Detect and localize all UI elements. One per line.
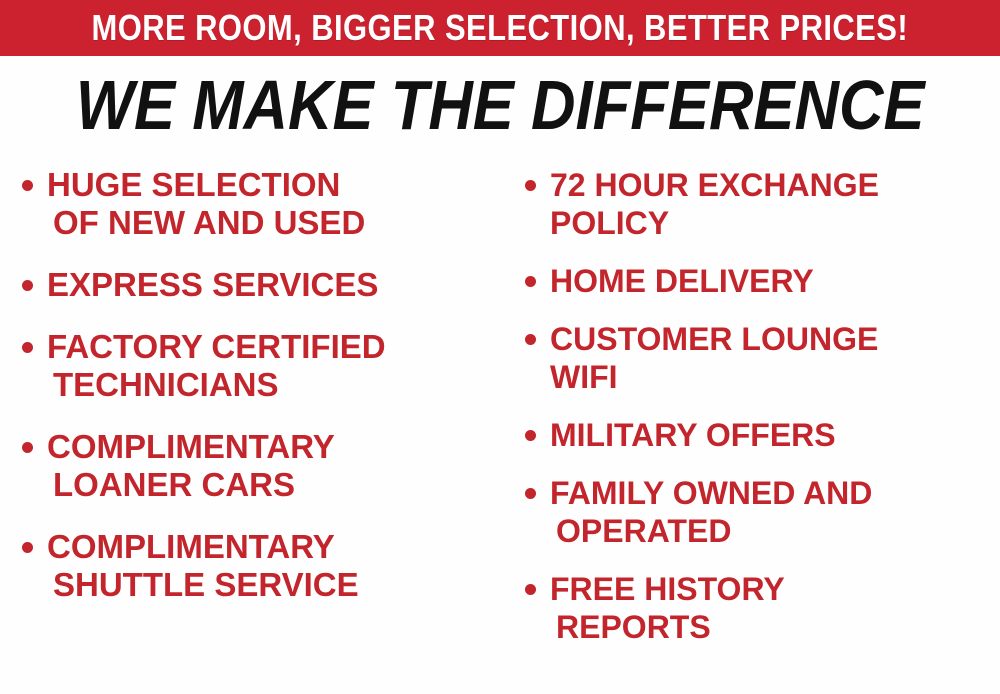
bullet-dot-icon (525, 334, 536, 345)
bullet-text: 72 HOUR EXCHANGE POLICY (550, 166, 879, 242)
headline-text: WE MAKE THE DIFFERENCE (76, 69, 925, 141)
bullet-dot-icon (22, 542, 33, 553)
bullet-dot-icon (22, 280, 33, 291)
list-item: FAMILY OWNED AND OPERATED (525, 474, 996, 550)
bullet-line-1: FAMILY OWNED AND (550, 475, 872, 511)
bullet-line-1: COMPLIMENTARY (47, 428, 335, 465)
list-item: FACTORY CERTIFIED TECHNICIANS (22, 328, 494, 404)
bullet-line-1: CUSTOMER LOUNGE (550, 321, 878, 357)
list-item: HUGE SELECTION OF NEW AND USED (22, 166, 494, 242)
bullet-dot-icon (22, 342, 33, 353)
bullet-text: EXPRESS SERVICES (47, 266, 378, 304)
bullet-text: HOME DELIVERY (550, 262, 814, 300)
bullet-line-1: FREE HISTORY (550, 571, 785, 607)
benefits-column-left: HUGE SELECTION OF NEW AND USED EXPRESS S… (0, 158, 500, 694)
bullet-text: COMPLIMENTARY LOANER CARS (47, 428, 335, 504)
bullet-line-2: WIFI (550, 358, 878, 396)
bullet-line-2: OF NEW AND USED (47, 204, 365, 242)
benefits-column-right: 72 HOUR EXCHANGE POLICY HOME DELIVERY CU… (500, 158, 1000, 694)
bullet-dot-icon (525, 276, 536, 287)
bullet-line-2: REPORTS (550, 608, 785, 646)
list-item: EXPRESS SERVICES (22, 266, 494, 304)
list-item: COMPLIMENTARY LOANER CARS (22, 428, 494, 504)
list-item: CUSTOMER LOUNGE WIFI (525, 320, 996, 396)
bullet-line-1: 72 HOUR EXCHANGE (550, 167, 879, 203)
bullet-text: COMPLIMENTARY SHUTTLE SERVICE (47, 528, 359, 604)
list-item: COMPLIMENTARY SHUTTLE SERVICE (22, 528, 494, 604)
poster-root: MORE ROOM, BIGGER SELECTION, BETTER PRIC… (0, 0, 1000, 694)
list-item: FREE HISTORY REPORTS (525, 570, 996, 646)
bullet-dot-icon (22, 442, 33, 453)
bullet-dot-icon (525, 180, 536, 191)
bullet-dot-icon (525, 430, 536, 441)
bullet-line-1: COMPLIMENTARY (47, 528, 335, 565)
bullet-text: MILITARY OFFERS (550, 416, 836, 454)
bullet-dot-icon (525, 488, 536, 499)
bullet-line-2: POLICY (550, 204, 879, 242)
bullet-line-1: FACTORY CERTIFIED (47, 328, 386, 365)
bullet-text: HUGE SELECTION OF NEW AND USED (47, 166, 365, 242)
list-item: 72 HOUR EXCHANGE POLICY (525, 166, 996, 242)
bullet-line-1: EXPRESS SERVICES (47, 266, 378, 303)
bullet-line-2: LOANER CARS (47, 466, 335, 504)
bullet-dot-icon (525, 584, 536, 595)
bullet-text: FREE HISTORY REPORTS (550, 570, 785, 646)
benefits-columns: HUGE SELECTION OF NEW AND USED EXPRESS S… (0, 158, 1000, 694)
top-banner: MORE ROOM, BIGGER SELECTION, BETTER PRIC… (0, 0, 1000, 56)
bullet-text: FAMILY OWNED AND OPERATED (550, 474, 872, 550)
bullet-text: CUSTOMER LOUNGE WIFI (550, 320, 878, 396)
bullet-line-2: OPERATED (550, 512, 872, 550)
list-item: HOME DELIVERY (525, 262, 996, 300)
bullet-line-1: HOME DELIVERY (550, 263, 814, 299)
bullet-text: FACTORY CERTIFIED TECHNICIANS (47, 328, 386, 404)
list-item: MILITARY OFFERS (525, 416, 996, 454)
main-headline: WE MAKE THE DIFFERENCE (0, 62, 1000, 148)
bullet-line-2: TECHNICIANS (47, 366, 386, 404)
bullet-line-2: SHUTTLE SERVICE (47, 566, 359, 604)
bullet-line-1: MILITARY OFFERS (550, 417, 836, 453)
banner-headline-text: MORE ROOM, BIGGER SELECTION, BETTER PRIC… (92, 10, 909, 46)
bullet-dot-icon (22, 180, 33, 191)
bullet-line-1: HUGE SELECTION (47, 166, 340, 203)
